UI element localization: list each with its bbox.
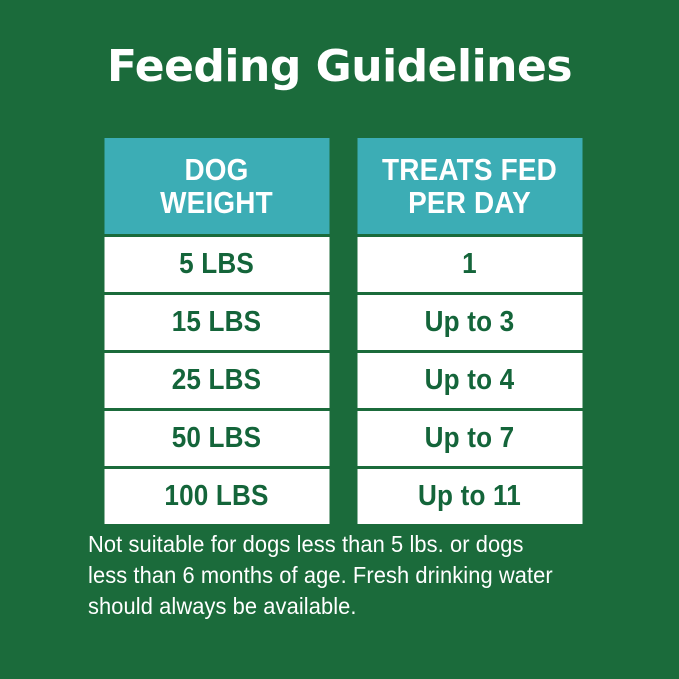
cell-dog-weight: 25 LBS <box>102 352 330 410</box>
table-row: 5 LBS 1 <box>90 236 596 294</box>
column-header-treats-fed-per-day: TREATS FED PER DAY <box>355 137 583 236</box>
cell-treats-per-day: Up to 4 <box>355 352 583 410</box>
cell-treats-per-day: Up to 7 <box>355 410 583 468</box>
page-title: Feeding Guidelines <box>0 44 679 90</box>
column-header-treats-line2: PER DAY <box>357 186 582 219</box>
feeding-guidelines-table: DOG WEIGHT TREATS FED PER DAY 5 LBS 1 15… <box>88 135 597 527</box>
table-header-row: DOG WEIGHT TREATS FED PER DAY <box>90 137 596 236</box>
cell-dog-weight: 50 LBS <box>102 410 330 468</box>
column-header-dog-weight: DOG WEIGHT <box>102 137 330 236</box>
column-header-treats-line1: TREATS FED <box>357 153 582 186</box>
cell-dog-weight: 100 LBS <box>102 468 330 526</box>
cell-dog-weight: 15 LBS <box>102 294 330 352</box>
table-row: 15 LBS Up to 3 <box>90 294 596 352</box>
cell-treats-per-day: Up to 11 <box>355 468 583 526</box>
cell-dog-weight: 5 LBS <box>102 236 330 294</box>
feeding-guidelines-panel: Feeding Guidelines DOG WEIGHT TREATS FED… <box>0 0 679 679</box>
table-row: 25 LBS Up to 4 <box>90 352 596 410</box>
column-header-dog-weight-line2: WEIGHT <box>104 186 329 219</box>
table-row: 50 LBS Up to 7 <box>90 410 596 468</box>
cell-treats-per-day: Up to 3 <box>355 294 583 352</box>
footnote-text: Not suitable for dogs less than 5 lbs. o… <box>88 529 568 622</box>
table-row: 100 LBS Up to 11 <box>90 468 596 526</box>
column-header-dog-weight-line1: DOG <box>104 153 329 186</box>
cell-treats-per-day: 1 <box>355 236 583 294</box>
